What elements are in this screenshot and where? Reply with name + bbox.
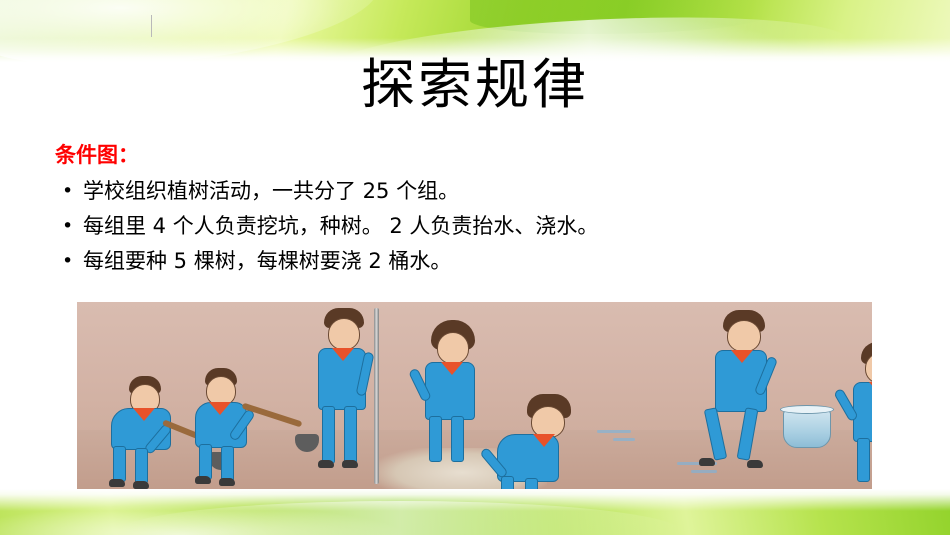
shoe bbox=[195, 476, 211, 484]
water-splash-mark bbox=[613, 438, 635, 441]
student-figure bbox=[477, 394, 597, 489]
list-item-text: 每组里 4 个人负责挖坑，种树。 2 人负责抬水、浇水。 bbox=[83, 214, 598, 238]
shoe bbox=[747, 460, 763, 468]
water-bucket bbox=[783, 410, 831, 448]
list-item: • 每组里 4 个人负责挖坑，种树。 2 人负责抬水、浇水。 bbox=[55, 209, 905, 244]
torso bbox=[497, 434, 559, 482]
section-subheading: 条件图： bbox=[55, 140, 905, 170]
shoe bbox=[133, 481, 149, 489]
leg bbox=[737, 407, 759, 460]
slide-body: 条件图： • 学校组织植树活动，一共分了 25 个组。 • 每组里 4 个人负责… bbox=[55, 140, 905, 279]
leg bbox=[344, 406, 357, 464]
decorative-bottom-banner bbox=[0, 489, 950, 535]
shoe bbox=[318, 460, 334, 468]
leg bbox=[525, 478, 538, 489]
water-splash-mark bbox=[597, 430, 631, 433]
shoe bbox=[109, 479, 125, 487]
leg bbox=[857, 438, 870, 482]
leg bbox=[501, 476, 514, 489]
tree-planting-illustration bbox=[77, 302, 872, 489]
student-figure bbox=[302, 308, 392, 488]
student-figure bbox=[829, 342, 872, 489]
title-placeholder-tick bbox=[151, 15, 152, 37]
leg bbox=[135, 448, 148, 484]
bullet-marker-icon: • bbox=[62, 209, 73, 244]
shoe bbox=[219, 478, 235, 486]
list-item: • 每组要种 5 棵树，每棵树要浇 2 桶水。 bbox=[55, 244, 905, 279]
water-bucket-rim bbox=[780, 405, 834, 414]
bottom-banner-swirl bbox=[120, 501, 680, 535]
student-figure bbox=[189, 342, 309, 489]
leg bbox=[322, 406, 335, 464]
list-item-text: 学校组织植树活动，一共分了 25 个组。 bbox=[83, 179, 459, 203]
bullet-list: • 学校组织植树活动，一共分了 25 个组。 • 每组里 4 个人负责挖坑，种树… bbox=[55, 174, 905, 279]
bullet-marker-icon: • bbox=[62, 174, 73, 209]
leg bbox=[704, 407, 728, 461]
shoe bbox=[342, 460, 358, 468]
leg bbox=[221, 446, 234, 482]
leg bbox=[451, 416, 464, 462]
slide-title: 探索规律 bbox=[0, 52, 950, 118]
head bbox=[328, 318, 360, 350]
student-figure bbox=[697, 310, 807, 485]
leg bbox=[429, 416, 442, 462]
leg bbox=[113, 446, 126, 482]
head bbox=[727, 320, 761, 352]
presentation-slide: 探索规律 条件图： • 学校组织植树活动，一共分了 25 个组。 • 每组里 4… bbox=[0, 0, 950, 535]
bullet-marker-icon: • bbox=[62, 244, 73, 279]
list-item-text: 每组要种 5 棵树，每棵树要浇 2 桶水。 bbox=[83, 249, 451, 273]
shoe bbox=[699, 458, 715, 466]
leg bbox=[199, 444, 212, 480]
head bbox=[437, 332, 469, 364]
list-item: • 学校组织植树活动，一共分了 25 个组。 bbox=[55, 174, 905, 209]
